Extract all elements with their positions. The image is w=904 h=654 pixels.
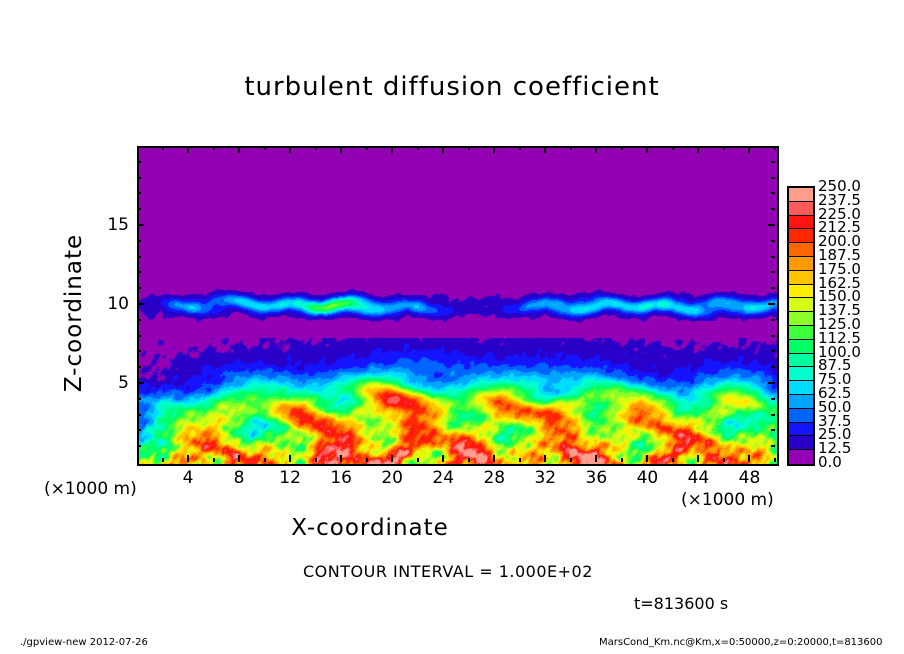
x-tick-major-top	[595, 146, 597, 153]
plot-area	[137, 146, 779, 466]
x-tick-minor	[264, 458, 266, 462]
y-tick-minor	[137, 445, 141, 447]
x-tick-minor-top	[621, 146, 623, 150]
y-tick-minor	[137, 240, 141, 242]
x-tick-major	[238, 455, 240, 462]
x-tick-minor-top	[570, 146, 572, 150]
y-tick-minor-right	[771, 208, 775, 210]
y-tick-minor	[137, 192, 141, 194]
y-tick-minor-right	[771, 335, 775, 337]
colorbar-band	[789, 450, 813, 464]
x-tick-major	[646, 455, 648, 462]
colorbar-band	[789, 285, 813, 299]
y-tick-minor-right	[771, 350, 775, 352]
colorbar-band	[789, 188, 813, 202]
x-tick-minor-top	[366, 146, 368, 150]
y-tick-minor	[137, 335, 141, 337]
y-tick-minor-right	[771, 398, 775, 400]
turbulence-field-heatmap	[139, 148, 777, 464]
colorbar-band	[789, 298, 813, 312]
colorbar-band	[789, 257, 813, 271]
x-axis-unit-left: (×1000 m)	[44, 479, 137, 499]
x-tick-minor	[315, 458, 317, 462]
x-tick-minor	[621, 458, 623, 462]
y-tick-minor	[137, 287, 141, 289]
y-tick-minor	[137, 398, 141, 400]
x-tick-minor-top	[774, 146, 776, 150]
colorbar-band	[789, 340, 813, 354]
x-tick-label: 12	[279, 468, 301, 488]
y-tick-minor	[137, 319, 141, 321]
x-tick-major	[289, 455, 291, 462]
x-tick-minor-top	[264, 146, 266, 150]
x-tick-major-top	[748, 146, 750, 153]
y-axis-title: Z-coordinate	[61, 213, 87, 413]
x-tick-major-top	[340, 146, 342, 153]
y-tick-minor-right	[771, 240, 775, 242]
contour-interval-caption: CONTOUR INTERVAL = 1.000E+02	[303, 562, 593, 581]
x-tick-minor-top	[672, 146, 674, 150]
x-tick-label: 36	[586, 468, 608, 488]
y-tick-major-right	[768, 382, 775, 384]
y-tick-minor-right	[771, 256, 775, 258]
x-tick-major	[748, 455, 750, 462]
x-tick-minor-top	[162, 146, 164, 150]
footer-datasource: MarsCond_Km.nc@Km,x=0:50000,z=0:20000,t=…	[599, 637, 883, 648]
y-tick-major	[137, 224, 144, 226]
colorbar	[787, 186, 815, 466]
y-tick-label: 5	[89, 373, 129, 393]
y-tick-minor-right	[771, 366, 775, 368]
x-tick-minor	[162, 458, 164, 462]
x-tick-label: 16	[330, 468, 352, 488]
y-tick-minor-right	[771, 429, 775, 431]
y-tick-minor-right	[771, 271, 775, 273]
y-tick-major-right	[768, 303, 775, 305]
y-tick-minor-right	[771, 192, 775, 194]
y-tick-minor	[137, 161, 141, 163]
x-axis-title: X-coordinate	[0, 515, 740, 541]
colorbar-band	[789, 229, 813, 243]
y-tick-minor	[137, 177, 141, 179]
x-tick-major	[187, 455, 189, 462]
x-tick-minor	[519, 458, 521, 462]
footer-command: ./gpview-new 2012-07-26	[20, 637, 148, 648]
x-tick-label: 28	[483, 468, 505, 488]
y-tick-minor	[137, 271, 141, 273]
y-tick-minor-right	[771, 287, 775, 289]
x-tick-minor	[417, 458, 419, 462]
colorbar-band	[789, 409, 813, 423]
colorbar-band	[789, 312, 813, 326]
x-tick-label: 24	[432, 468, 454, 488]
x-tick-major-top	[238, 146, 240, 153]
x-tick-label: 20	[381, 468, 403, 488]
x-tick-minor-top	[723, 146, 725, 150]
x-tick-major	[442, 455, 444, 462]
x-tick-minor-top	[315, 146, 317, 150]
y-tick-major	[137, 382, 144, 384]
colorbar-band	[789, 326, 813, 340]
y-tick-minor-right	[771, 445, 775, 447]
x-tick-minor-top	[213, 146, 215, 150]
x-tick-minor	[672, 458, 674, 462]
colorbar-band	[789, 367, 813, 381]
x-tick-major	[697, 455, 699, 462]
time-stamp-caption: t=813600 s	[634, 594, 728, 613]
x-tick-minor	[468, 458, 470, 462]
x-tick-minor	[774, 458, 776, 462]
x-tick-minor	[366, 458, 368, 462]
colorbar-band	[789, 436, 813, 450]
x-tick-minor	[570, 458, 572, 462]
colorbar-band	[789, 271, 813, 285]
x-tick-minor-top	[468, 146, 470, 150]
colorbar-band	[789, 243, 813, 257]
x-tick-major	[391, 455, 393, 462]
x-tick-label: 4	[183, 468, 194, 488]
x-tick-major-top	[697, 146, 699, 153]
x-tick-label: 40	[637, 468, 659, 488]
y-tick-minor-right	[771, 161, 775, 163]
colorbar-tick-label: 0.0	[818, 453, 842, 471]
x-tick-minor	[213, 458, 215, 462]
x-axis-unit-right: (×1000 m)	[681, 490, 774, 510]
y-tick-minor-right	[771, 414, 775, 416]
x-tick-major-top	[289, 146, 291, 153]
y-tick-minor	[137, 429, 141, 431]
y-tick-major	[137, 303, 144, 305]
x-tick-major-top	[391, 146, 393, 153]
x-tick-minor	[723, 458, 725, 462]
y-tick-minor	[137, 256, 141, 258]
y-tick-minor-right	[771, 319, 775, 321]
x-tick-minor-top	[519, 146, 521, 150]
x-tick-major-top	[544, 146, 546, 153]
x-tick-major-top	[442, 146, 444, 153]
x-tick-major	[340, 455, 342, 462]
y-tick-minor	[137, 366, 141, 368]
colorbar-band	[789, 395, 813, 409]
x-tick-major	[595, 455, 597, 462]
y-tick-minor	[137, 350, 141, 352]
colorbar-band	[789, 216, 813, 230]
y-tick-minor-right	[771, 177, 775, 179]
x-tick-label: 8	[234, 468, 245, 488]
x-tick-major-top	[493, 146, 495, 153]
colorbar-band	[789, 381, 813, 395]
colorbar-band	[789, 423, 813, 437]
colorbar-band	[789, 202, 813, 216]
colorbar-band	[789, 354, 813, 368]
x-tick-major-top	[187, 146, 189, 153]
page-title: turbulent diffusion coefficient	[0, 72, 904, 102]
x-tick-minor-top	[417, 146, 419, 150]
x-tick-major	[544, 455, 546, 462]
x-tick-label: 44	[688, 468, 710, 488]
x-tick-major	[493, 455, 495, 462]
x-tick-label: 32	[534, 468, 556, 488]
y-tick-label: 15	[89, 215, 129, 235]
y-tick-minor	[137, 414, 141, 416]
y-tick-minor	[137, 208, 141, 210]
x-tick-major-top	[646, 146, 648, 153]
y-tick-label: 10	[89, 294, 129, 314]
x-tick-label: 48	[739, 468, 761, 488]
y-tick-major-right	[768, 224, 775, 226]
